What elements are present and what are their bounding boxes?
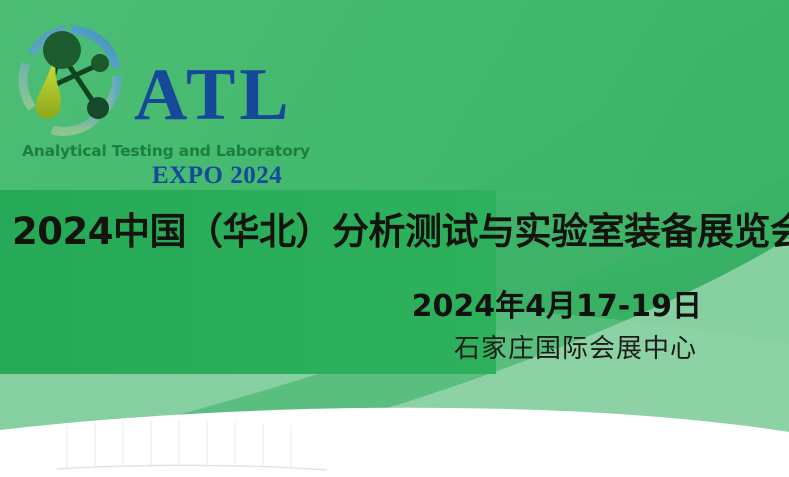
logo-lockup: ATL Analytical Testing and Laboratory EX…	[8, 16, 298, 176]
event-date: 2024年4月17-19日	[412, 290, 702, 324]
atl-expo-banner: ATL Analytical Testing and Laboratory EX…	[0, 0, 789, 477]
event-venue: 石家庄国际会展中心	[454, 334, 697, 364]
atl-molecule-ring-icon	[8, 20, 132, 144]
logo-acronym: ATL	[134, 58, 293, 132]
logo-subtitle: Analytical Testing and Laboratory	[22, 142, 310, 160]
event-headline: 2024中国（华北）分析测试与实验室装备展览会	[12, 210, 782, 254]
exhibition-hall-linework	[55, 419, 330, 477]
logo-expo-year: EXPO 2024	[152, 162, 282, 190]
